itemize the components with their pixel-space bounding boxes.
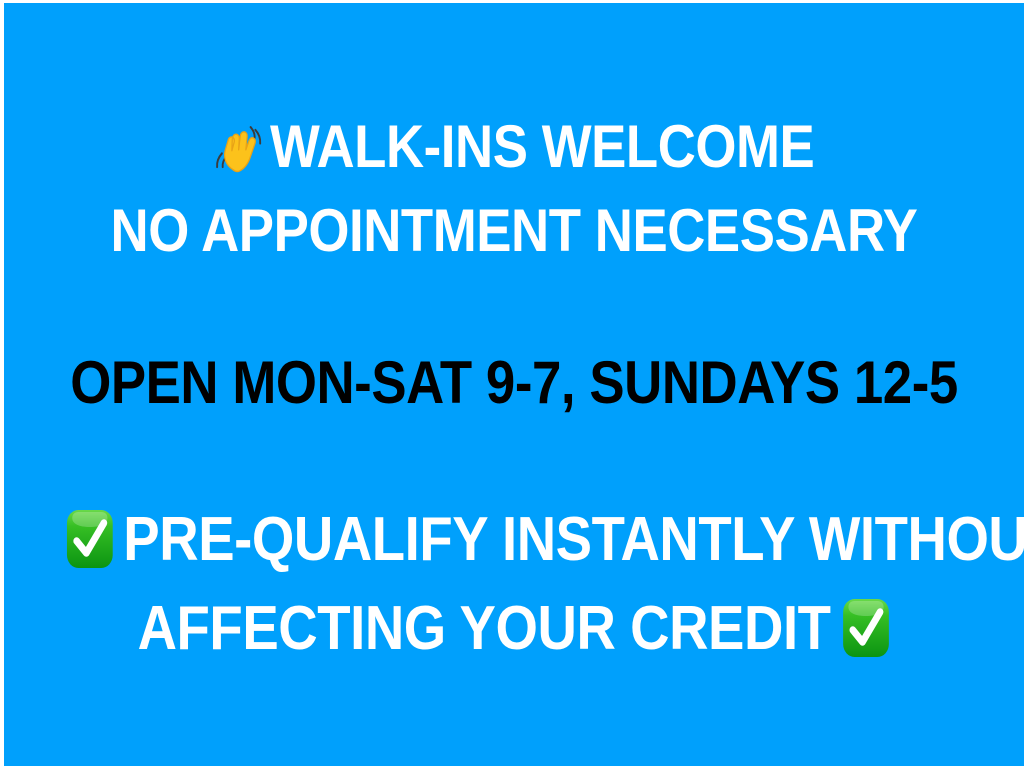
sign-line-opening-hours: OPEN MON-SAT 9-7, SUNDAYS 12-5 bbox=[65, 353, 963, 413]
sign-line-text: NO APPOINTMENT NECESSARY bbox=[111, 197, 918, 264]
sign-background: WALK-INS WELCOME NO APPOINTMENT NECESSAR… bbox=[4, 3, 1024, 766]
waving-hand-icon bbox=[214, 119, 265, 177]
sign-line-affecting-your-credit: AFFECTING YOUR CREDIT bbox=[65, 597, 963, 660]
sign-line-text: PRE-QUALIFY INSTANTLY WITHOUT bbox=[123, 505, 1024, 574]
white-check-mark-icon bbox=[65, 508, 114, 570]
sign-line-text: WALK-INS WELCOME bbox=[270, 113, 814, 180]
white-check-mark-icon bbox=[841, 597, 890, 659]
message-stack: WALK-INS WELCOME NO APPOINTMENT NECESSAR… bbox=[4, 3, 1024, 766]
sign-line-text: AFFECTING YOUR CREDIT bbox=[138, 594, 831, 663]
sign-line-no-appointment-necessary: NO APPOINTMENT NECESSARY bbox=[65, 201, 963, 261]
sign-line-walk-ins-welcome: WALK-INS WELCOME bbox=[65, 117, 963, 177]
sign-line-pre-qualify-instantly-without: PRE-QUALIFY INSTANTLY WITHOUT bbox=[65, 508, 963, 571]
sign-line-text: OPEN MON-SAT 9-7, SUNDAYS 12-5 bbox=[70, 349, 958, 416]
